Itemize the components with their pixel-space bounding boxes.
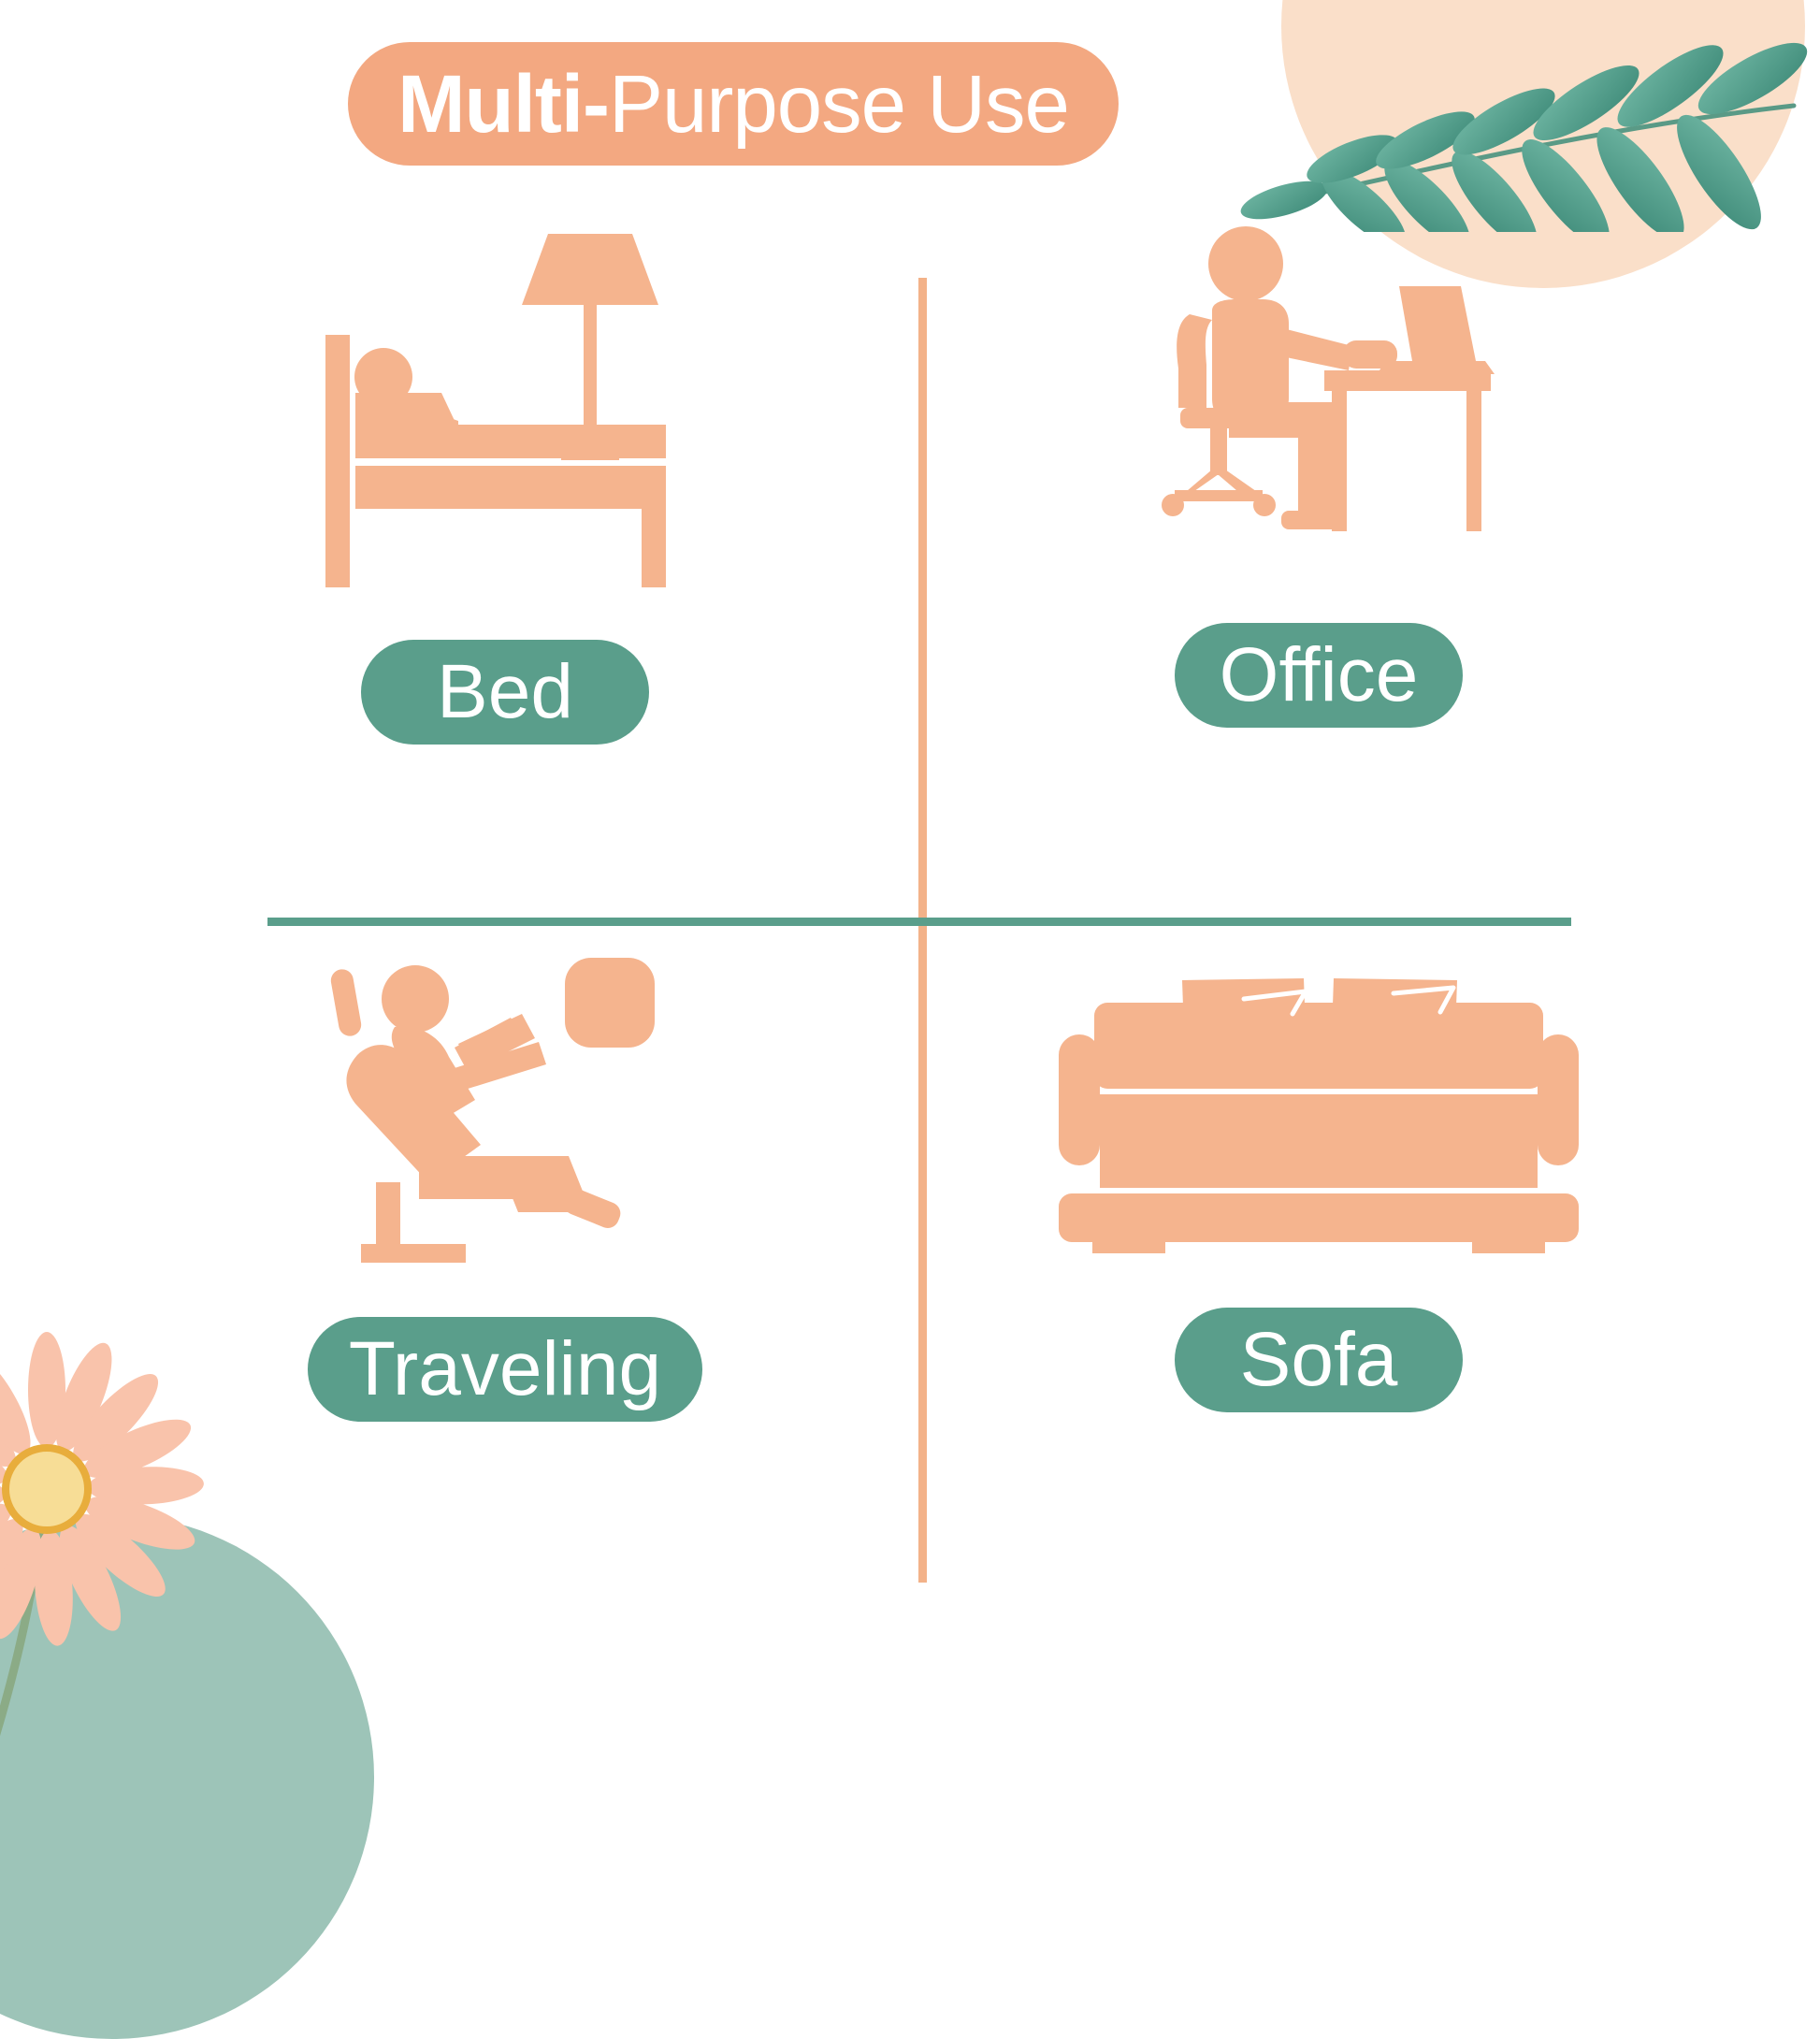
page-title-light: Purpose Use bbox=[609, 59, 1069, 150]
label-pill-bed[interactable]: Bed bbox=[361, 640, 649, 745]
sofa-with-cushions-icon bbox=[1057, 945, 1581, 1253]
label-pill-traveling[interactable]: Traveling bbox=[308, 1317, 702, 1422]
quadrant-bed[interactable]: Bed bbox=[131, 224, 879, 745]
label-bed: Bed bbox=[437, 654, 573, 730]
page-title: Multi-Purpose Use bbox=[397, 64, 1069, 145]
quadrant-sofa[interactable]: Sofa bbox=[945, 945, 1693, 1412]
bed-with-person-and-lamp-icon bbox=[318, 224, 692, 599]
page-title-strong: Multi- bbox=[397, 59, 609, 150]
label-pill-sofa[interactable]: Sofa bbox=[1175, 1308, 1463, 1412]
page-title-banner: Multi-Purpose Use bbox=[348, 42, 1119, 166]
quadrant-traveling[interactable]: Traveling bbox=[131, 945, 879, 1422]
person-at-desk-with-laptop-icon bbox=[1132, 224, 1506, 561]
person-reclining-in-airplane-seat-icon bbox=[318, 945, 692, 1281]
quadrant-grid: Bed bbox=[0, 196, 1820, 1599]
quadrant-office[interactable]: Office bbox=[945, 224, 1693, 728]
label-traveling: Traveling bbox=[349, 1331, 661, 1408]
label-pill-office[interactable]: Office bbox=[1175, 623, 1463, 728]
label-sofa: Sofa bbox=[1240, 1322, 1398, 1398]
label-office: Office bbox=[1220, 637, 1419, 714]
